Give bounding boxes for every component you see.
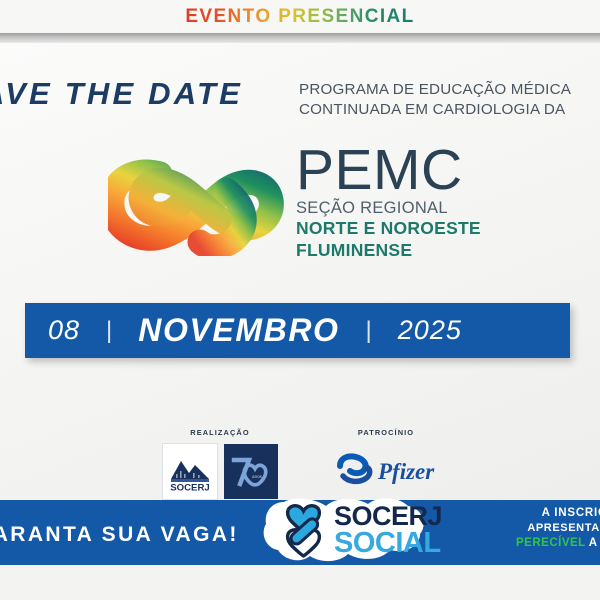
pemc-region-line-2: FLUMINENSE [296,241,481,261]
social-word-top: SOCERJ [334,504,442,530]
patrocinio-caption: PATROCÍNIO [334,428,438,437]
anniversary-sub-text: anos [252,474,263,479]
event-type-banner: EVENTO PRESENCIAL [185,6,414,28]
footer-note-line-2: APRESENTAÇÃO [516,521,600,536]
footer-note-line-1: A INSCRIÇÃO [516,506,600,521]
date-separator-2: | [366,317,372,345]
pfizer-logo: Pfizer [334,443,438,498]
sponsor-section: REALIZAÇÃO SOCERJ [0,428,600,500]
socerj-social-badge: SOCERJ SOCIAL [262,496,470,568]
socerj-70-anniversary-logo: anos [224,444,278,499]
pemc-region-line-1: NORTE E NOROESTE [296,219,481,239]
event-date-banner: 08 | NOVEMBRO | 2025 [25,303,570,358]
program-line-1: PROGRAMA DE EDUCAÇÃO MÉDICA [299,80,571,100]
realizacao-logos: SOCERJ anos [162,443,278,500]
pemc-wordmark: PEMC SEÇÃO REGIONAL NORTE E NOROESTE FLU… [296,140,481,260]
patrocinio-group: PATROCÍNIO Pfizer [334,428,438,498]
footer-note-highlight: PERECÍVEL [516,537,585,549]
event-month: NOVEMBRO [138,312,339,349]
seventy-heart-icon: anos [229,450,273,494]
save-the-date-headline: SAVE THE DATE [0,76,243,112]
event-year: 2025 [398,315,462,346]
date-separator-1: | [106,317,112,345]
pfizer-logo-icon: Pfizer [334,452,438,490]
pemc-logo-lockup: PEMC SEÇÃO REGIONAL NORTE E NOROESTE FLU… [108,140,481,260]
social-word-bottom: SOCIAL [334,530,442,558]
event-day: 08 [48,315,80,346]
socerj-logo: SOCERJ [162,443,218,500]
pfizer-wordmark-text: Pfizer [377,459,435,484]
pemc-infinity-ribbon-icon [108,144,286,256]
program-line-2: CONTINUADA EM CARDIOLOGIA DA [299,100,571,120]
pemc-acronym: PEMC [296,144,481,198]
footer-cta-text: GARANTA SUA VAGA! [0,523,239,547]
header-divider-strip [0,33,600,43]
event-poster: EVENTO PRESENCIAL SAVE THE DATE PROGRAMA… [0,0,600,600]
realizacao-caption: REALIZAÇÃO [162,428,278,437]
footer-note-line-3-rest: A SER [585,537,600,549]
footer-white-strip [0,565,600,600]
program-description: PROGRAMA DE EDUCAÇÃO MÉDICA CONTINUADA E… [299,80,571,120]
socerj-logo-text: SOCERJ [170,482,209,493]
socerj-mountain-icon: SOCERJ [167,449,213,495]
top-header-band: EVENTO PRESENCIAL [0,0,600,33]
socerj-social-wordmark: SOCERJ SOCIAL [334,504,442,557]
footer-note: A INSCRIÇÃO APRESENTAÇÃO PERECÍVEL A SER [516,506,600,551]
footer-note-line-3: PERECÍVEL A SER [516,536,600,551]
realizacao-group: REALIZAÇÃO SOCERJ [162,428,278,500]
